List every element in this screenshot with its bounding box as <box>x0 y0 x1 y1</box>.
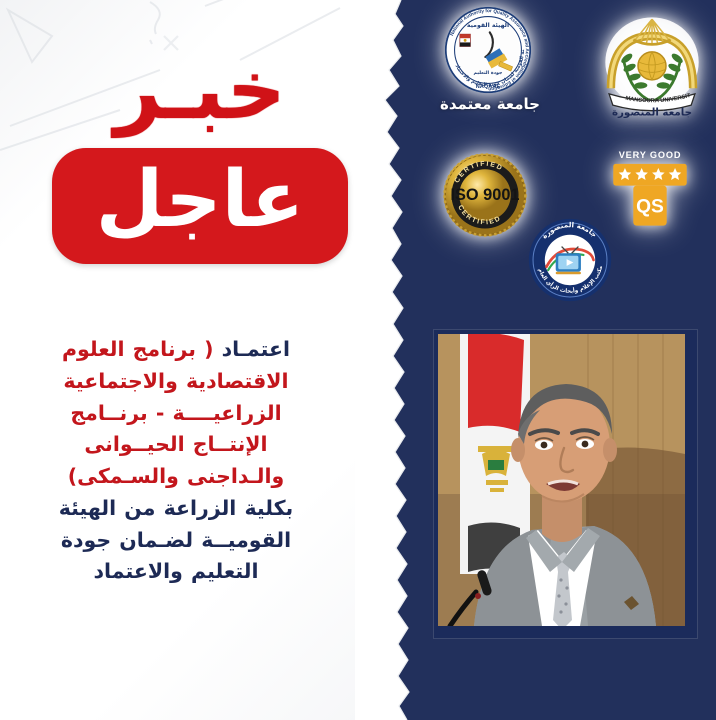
qs-stars-rating-icon: VERY GOOD QS <box>608 148 692 244</box>
announcement-line-5: والـداجنى والسـمكى) <box>18 461 334 493</box>
iso-9001-badge-icon: CERTIFIED CERTIFIED ISO 9001 <box>442 152 528 238</box>
announcement-line-4: الإنتــاج الحيــوانى <box>18 429 334 461</box>
mansoura-media-center-icon: جامعة المنصورة مكتب الإعلام وأبحاث الرأي… <box>528 218 612 302</box>
announcement-line-1-navy: اعتمـاد <box>222 337 290 361</box>
announcement-line-1: اعتمـاد ( برنامج العلوم <box>18 334 334 366</box>
announcement-line-2: الاقتصادية والاجتماعية <box>18 366 334 398</box>
announcement-line-1-red: ( برنامج العلوم <box>62 337 214 361</box>
svg-text:NAQAAE: NAQAAE <box>476 84 501 90</box>
announcement-line-7: القوميــة لضـمان جودة <box>18 525 334 557</box>
headline-agel: عاجل <box>96 154 304 246</box>
svg-text:جودة التعليم: جودة التعليم <box>474 70 503 76</box>
svg-text:جامعة المنصورة: جامعة المنصورة <box>612 106 692 118</box>
svg-text:VERY GOOD: VERY GOOD <box>619 150 682 160</box>
svg-text:الهيئة القومية: الهيئة القومية <box>467 22 509 29</box>
naqaae-caption: جامعة معتمدة <box>420 95 560 113</box>
announcement-line-6: بكلية الزراعة من الهيئة <box>18 493 334 525</box>
official-portrait-image <box>438 334 685 626</box>
announcement-line-8: التعليم والاعتماد <box>18 556 334 588</box>
announcement-text: اعتمـاد ( برنامج العلوم الاقتصادية والاج… <box>18 334 334 588</box>
svg-text:QS: QS <box>636 196 664 217</box>
announcement-line-3: الزراعيــــة - برنــامج <box>18 398 334 430</box>
mansoura-university-seal-icon: MANSOURA UNIVERSITY جامعة المنصورة <box>596 8 708 120</box>
poster-root: خبـر عاجل اعتمـاد ( برنامج العلوم الاقتص… <box>0 0 716 720</box>
breaking-badge: عاجل <box>52 148 348 264</box>
svg-text:ISO 9001: ISO 9001 <box>451 186 520 204</box>
headline-khabar: خبـر <box>0 48 400 134</box>
headline-block: خبـر عاجل <box>0 48 400 264</box>
naqaae-seal-icon: National Authority for Quality Assurance… <box>444 6 532 94</box>
official-portrait-frame <box>434 330 697 638</box>
